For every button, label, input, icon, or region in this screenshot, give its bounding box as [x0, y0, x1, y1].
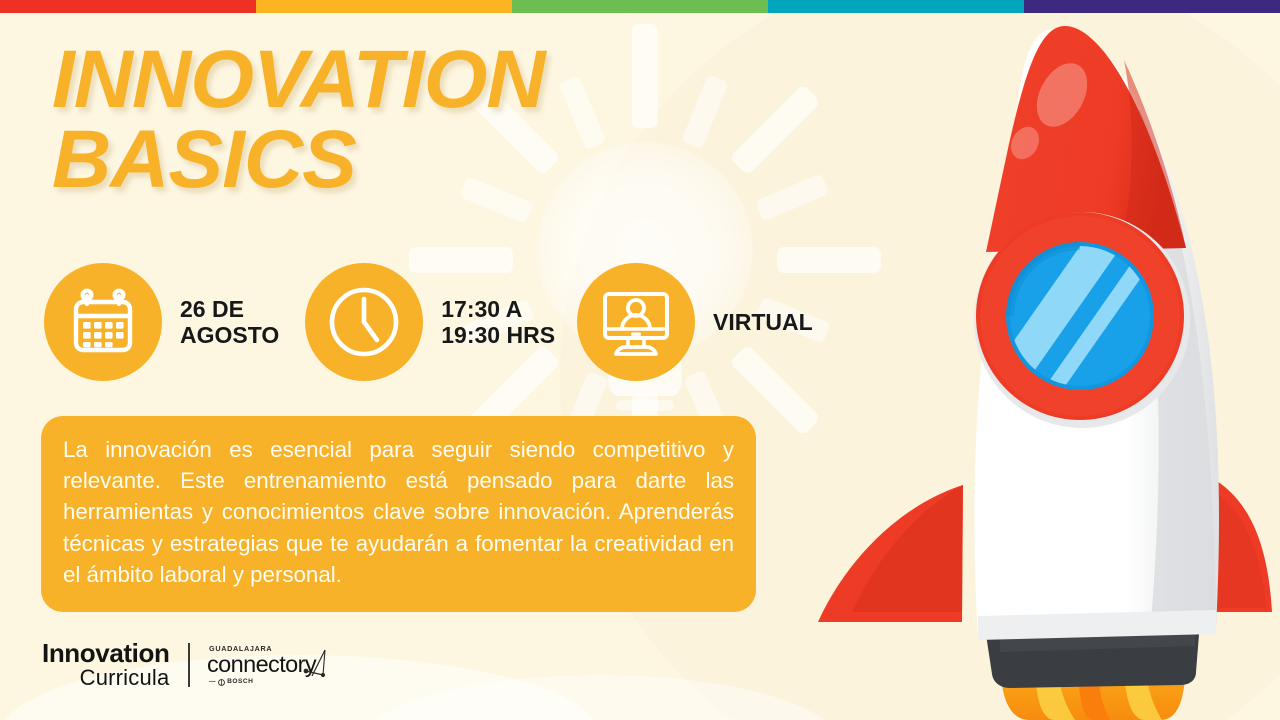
poster-canvas: INNOVATION BASICS: [0, 0, 1280, 720]
bosch-prefix: —: [209, 679, 216, 686]
footer-logos: Innovation Curricula GUADALAJARA connect…: [42, 640, 316, 689]
rocket-window: [970, 206, 1190, 442]
rocket-illustration: [818, 26, 1272, 720]
bosch-logo-icon: [218, 679, 225, 686]
color-segment-green: [512, 0, 768, 13]
color-segment-red: [0, 0, 256, 13]
event-detail-modality: VIRTUAL: [577, 263, 813, 381]
logo-divider: [188, 643, 190, 687]
network-nodes-icon: [296, 649, 328, 679]
description-text: La innovación es esencial para seguir si…: [63, 434, 734, 590]
logo-primary-line-1: Innovation: [42, 640, 169, 666]
event-details-row: 26 DE AGOSTO 17:30 A 19:30 HRS: [44, 263, 813, 381]
connectory-logo: GUADALAJARA connectory — BOSCH: [207, 643, 316, 686]
color-segment-teal: [768, 0, 1024, 13]
rocket-nozzle: [985, 622, 1200, 688]
bosch-text: BOSCH: [227, 679, 253, 686]
rocket-nose-cone: [986, 26, 1186, 252]
rocket-flame: [1000, 655, 1186, 720]
event-date-label: 26 DE AGOSTO: [180, 296, 279, 348]
top-color-bar: [0, 0, 1280, 13]
title-line-1: INNOVATION: [52, 40, 545, 120]
calendar-icon: [67, 286, 139, 358]
color-segment-orange: [256, 0, 512, 13]
page-title: INNOVATION BASICS: [52, 40, 545, 201]
calendar-icon-badge: [44, 263, 162, 381]
event-modality-label: VIRTUAL: [713, 309, 813, 335]
event-detail-time: 17:30 A 19:30 HRS: [305, 263, 555, 381]
rocket-body: [974, 28, 1219, 636]
clock-icon: [324, 282, 404, 362]
description-box: La innovación es esencial para seguir si…: [41, 416, 756, 612]
logo-primary-line-2: Curricula: [42, 667, 169, 689]
event-time-label: 17:30 A 19:30 HRS: [441, 296, 555, 348]
bosch-brand-label: — BOSCH: [209, 679, 316, 686]
video-monitor-icon-badge: [577, 263, 695, 381]
event-detail-date: 26 DE AGOSTO: [44, 263, 279, 381]
video-monitor-icon: [598, 284, 674, 360]
color-segment-purple: [1024, 0, 1280, 13]
clock-icon-badge: [305, 263, 423, 381]
innovation-curricula-logo: Innovation Curricula: [42, 640, 169, 689]
title-line-2: BASICS: [52, 120, 545, 200]
